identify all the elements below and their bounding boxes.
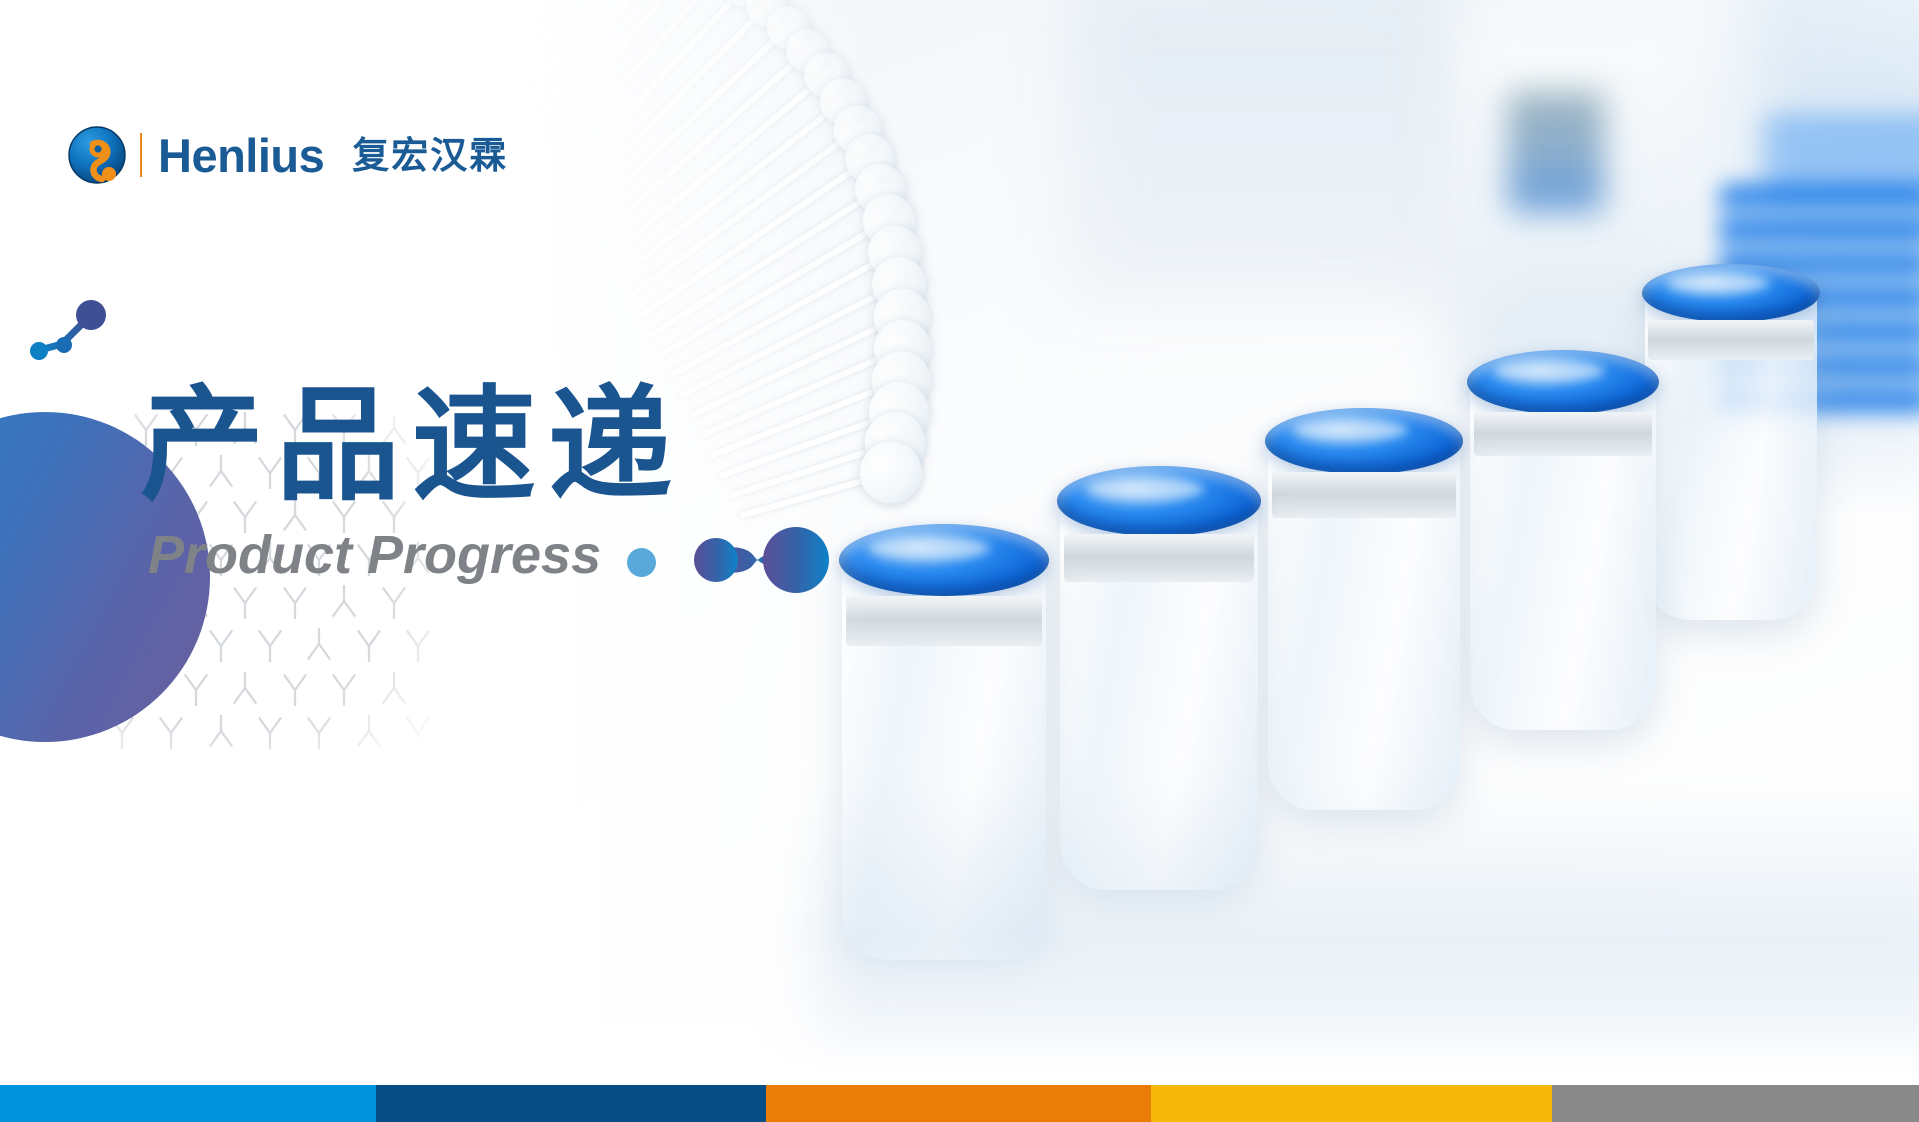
antibody-y-glyph (403, 715, 433, 749)
molecule-icon (28, 300, 114, 366)
antibody-y-glyph (304, 715, 334, 749)
antibody-y-glyph (206, 628, 236, 662)
logo-divider (140, 133, 142, 177)
vial-cap-4 (1467, 350, 1659, 414)
vial-3 (1268, 440, 1460, 810)
antibody-y-glyph (255, 715, 285, 749)
segment-orange (766, 1085, 1152, 1122)
vial-band-2 (1064, 534, 1254, 582)
antibody-y-glyph (280, 585, 310, 619)
segment-dark-blue (376, 1085, 766, 1122)
vial-cap-2 (1057, 466, 1261, 536)
antibody-y-glyph (354, 715, 384, 749)
vial-cap-1 (839, 524, 1049, 596)
vial-band-1 (846, 596, 1042, 646)
antibody-y-glyph (354, 628, 384, 662)
segment-light-blue (0, 1085, 376, 1122)
page-title: 产品速递 (140, 373, 684, 519)
antibody-y-glyph (329, 585, 359, 619)
vial-cap-3 (1265, 408, 1463, 474)
antibody-y-glyph (280, 672, 310, 706)
vial-band-3 (1272, 472, 1456, 518)
vial-band-5 (1648, 320, 1814, 360)
antibody-y-glyph (255, 628, 285, 662)
vial-5 (1645, 290, 1817, 620)
antibody-y-glyph (379, 672, 409, 706)
vial-band-4 (1474, 412, 1652, 456)
antibody-y-glyph (181, 672, 211, 706)
segment-amber (1151, 1085, 1552, 1122)
decor-dot (627, 548, 656, 577)
title-slide: Henlius 复宏汉霖 产品速递 Product Progress (0, 0, 1919, 1122)
antibody-y-glyph (156, 715, 186, 749)
bottom-color-bar (0, 1085, 1919, 1122)
antibody-y-glyph (403, 628, 433, 662)
dumbbell-molecule-icon (690, 527, 840, 593)
logo-chinese-name: 复宏汉霖 (352, 137, 508, 174)
logo-wordmark: Henlius (158, 132, 324, 179)
lab-vials-dna-photo (430, 0, 1919, 1085)
brand-logo[interactable]: Henlius 复宏汉霖 (68, 126, 508, 184)
antibody-y-glyph (206, 715, 236, 749)
page-subtitle: Product Progress (148, 528, 601, 582)
vial-4 (1470, 380, 1656, 730)
photo-bottle-label (1508, 92, 1604, 212)
antibody-y-glyph (329, 672, 359, 706)
antibody-y-glyph (230, 585, 260, 619)
vial-cap-5 (1642, 264, 1820, 322)
henlius-molecule-mark (68, 126, 126, 184)
photo-fade-bottom (430, 935, 1919, 1085)
antibody-y-glyph (230, 672, 260, 706)
antibody-y-glyph (304, 628, 334, 662)
segment-gray (1552, 1085, 1919, 1122)
antibody-y-glyph (379, 585, 409, 619)
